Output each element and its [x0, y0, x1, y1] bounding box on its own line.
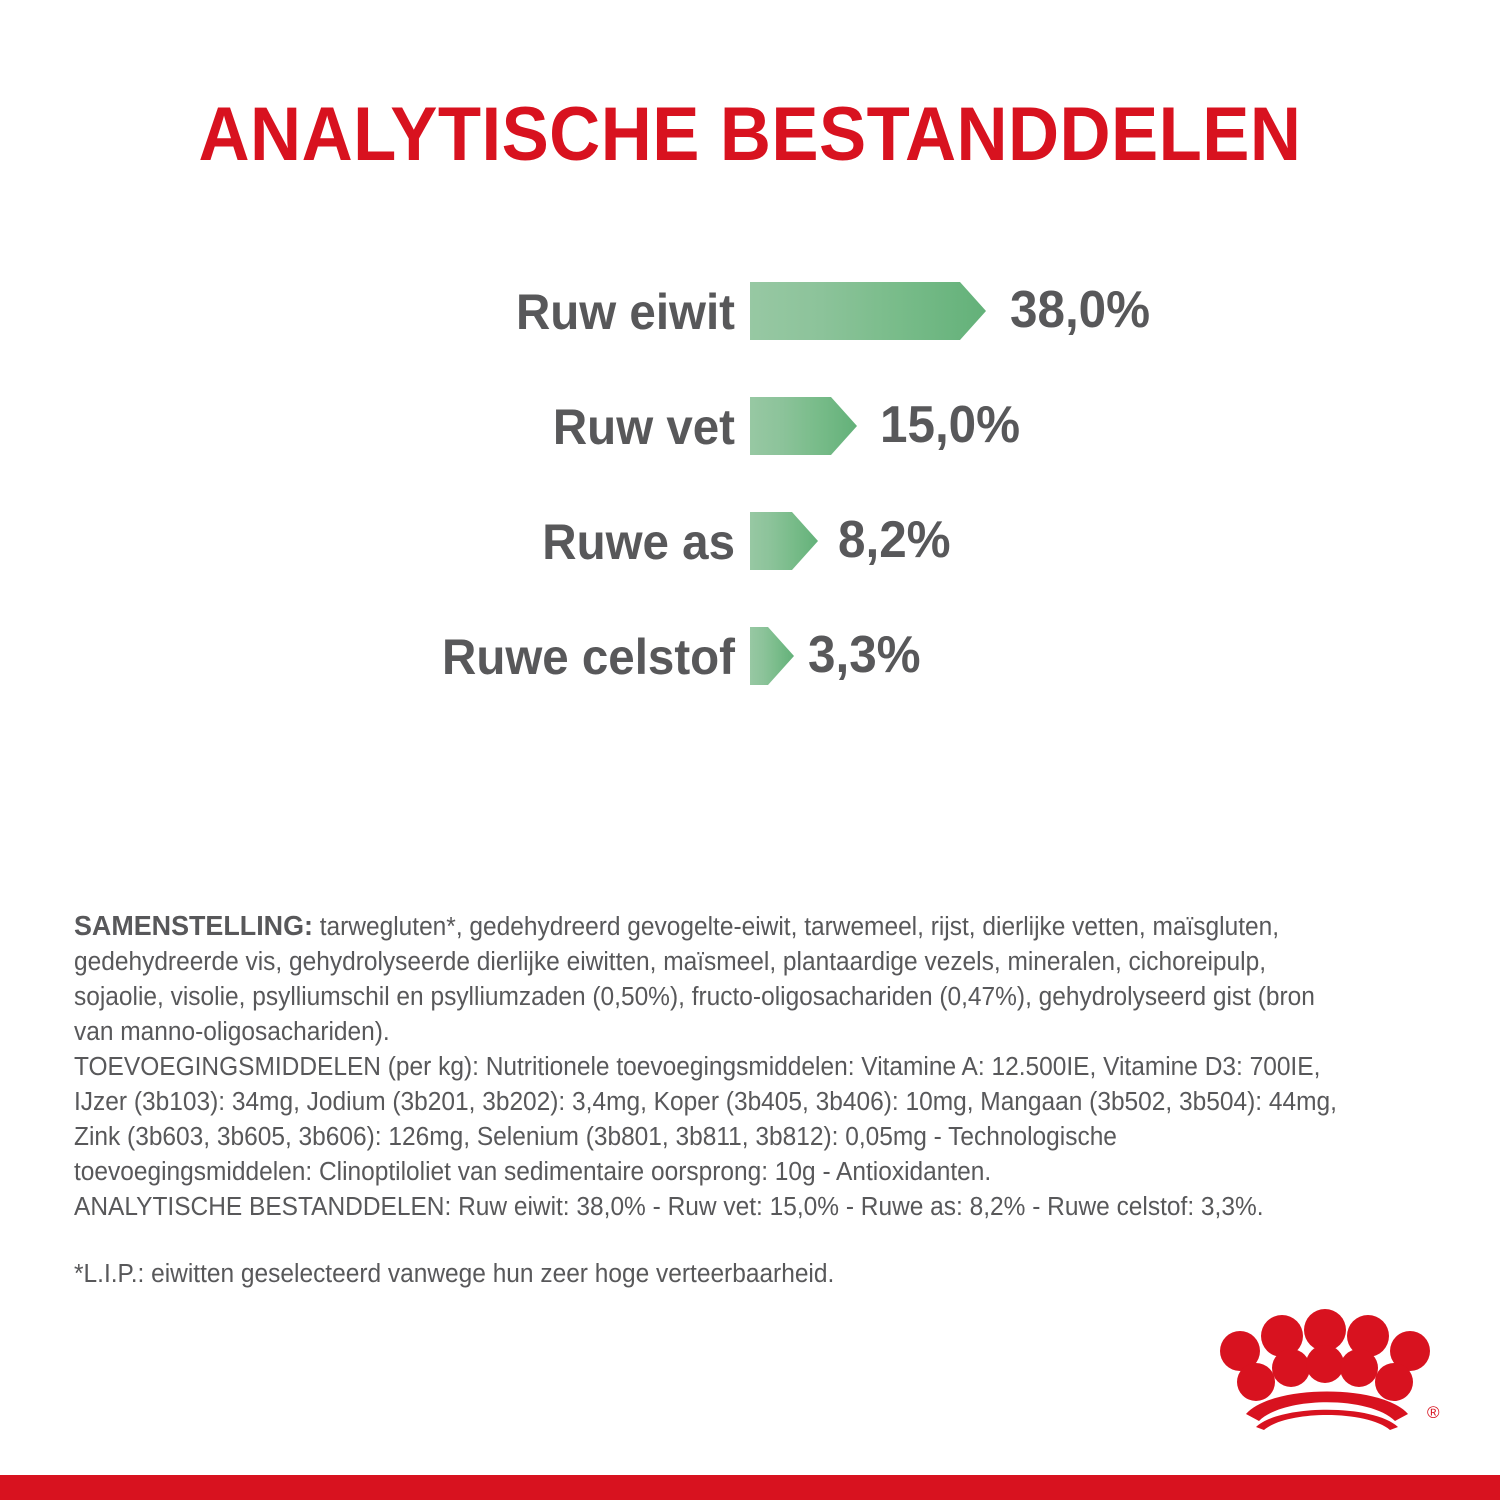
nutrient-bar-ruwe-celstof [750, 627, 794, 685]
nutrient-label-ruw-eiwit: Ruw eiwit [165, 282, 735, 342]
composition-paragraph: SAMENSTELLING: tarwegluten*, gedehydreer… [74, 908, 1351, 1050]
nutrient-bar-ruwe-as [750, 512, 818, 570]
nutrient-value-ruwe-celstof: 3,3% [808, 625, 921, 685]
nutrient-value-ruw-vet: 15,0% [880, 395, 1020, 455]
composition-lead-label: SAMENSTELLING: [74, 910, 313, 941]
additives-paragraph: TOEVOEGINGSMIDDELEN (per kg): Nutritione… [74, 1050, 1351, 1190]
nutrient-label-ruwe-as: Ruwe as [165, 512, 735, 572]
nutrient-row: Ruwe as 8,2% [0, 506, 1500, 621]
nutrient-row: Ruw vet 15,0% [0, 391, 1500, 506]
composition-text-block: SAMENSTELLING: tarwegluten*, gedehydreer… [74, 908, 1351, 1292]
product-info-panel: ANALYTISCHE BESTANDDELEN Ruw eiwit 38,0%… [0, 0, 1500, 1500]
nutrient-value-ruw-eiwit: 38,0% [1010, 280, 1150, 340]
nutrient-value-ruwe-as: 8,2% [838, 510, 951, 570]
analytical-constituents-chart: Ruw eiwit 38,0% Ruw vet 15,0% Ruwe as 8,… [0, 276, 1500, 736]
bar-fill-ruwe-as [750, 512, 818, 570]
bar-fill-ruw-eiwit [750, 282, 986, 340]
lip-footnote: *L.I.P.: eiwitten geselecteerd vanwege h… [74, 1257, 1351, 1292]
bar-fill-ruwe-celstof [750, 627, 794, 685]
nutrient-label-ruwe-celstof: Ruwe celstof [165, 627, 735, 687]
registered-trademark-mark: ® [1427, 1403, 1440, 1422]
nutrient-row: Ruwe celstof 3,3% [0, 621, 1500, 736]
nutrient-row: Ruw eiwit 38,0% [0, 276, 1500, 391]
analytical-paragraph: ANALYTISCHE BESTANDDELEN: Ruw eiwit: 38,… [74, 1190, 1351, 1225]
page-title: ANALYTISCHE BESTANDDELEN [53, 97, 1448, 173]
royal-canin-crown-logo: ® [1212, 1306, 1442, 1432]
bar-fill-ruw-vet [750, 397, 857, 455]
bottom-red-band [0, 1475, 1500, 1500]
nutrient-label-ruw-vet: Ruw vet [165, 397, 735, 457]
nutrient-bar-ruw-vet [750, 397, 857, 455]
nutrient-bar-ruw-eiwit [750, 282, 986, 340]
